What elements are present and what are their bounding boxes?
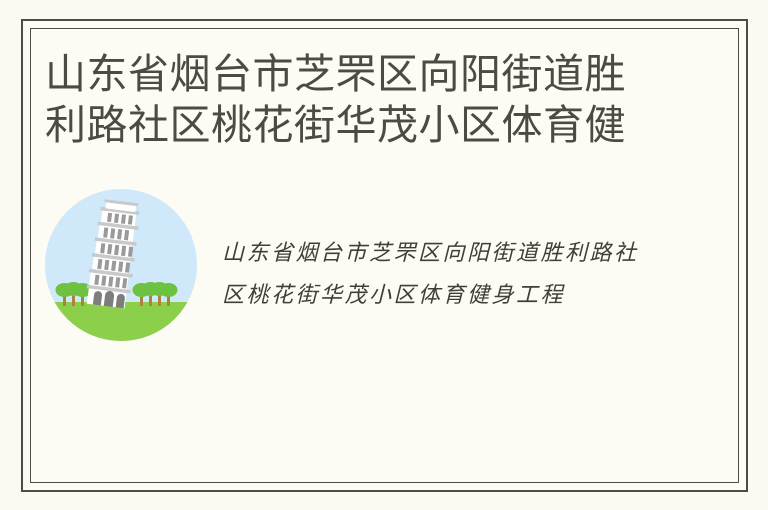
page-title-line-2: 利路社区桃花街华茂小区体育健 — [45, 100, 645, 149]
description-text: 山东省烟台市芝罘区向阳街道胜利路社区桃花街华茂小区体育健身工程 — [222, 189, 652, 317]
content-row: 山东省烟台市芝罘区向阳街道胜利路社区桃花街华茂小区体育健身工程 — [45, 189, 726, 341]
leaning-tower-of-pisa-icon — [45, 189, 197, 341]
thumbnail — [45, 189, 197, 341]
page-title: 山东省烟台市芝罘区向阳街道胜 利路社区桃花街华茂小区体育健 — [45, 49, 645, 149]
info-card: 山东省烟台市芝罘区向阳街道胜 利路社区桃花街华茂小区体育健 — [21, 19, 748, 492]
page-title-line-1: 山东省烟台市芝罘区向阳街道胜 — [45, 49, 645, 100]
